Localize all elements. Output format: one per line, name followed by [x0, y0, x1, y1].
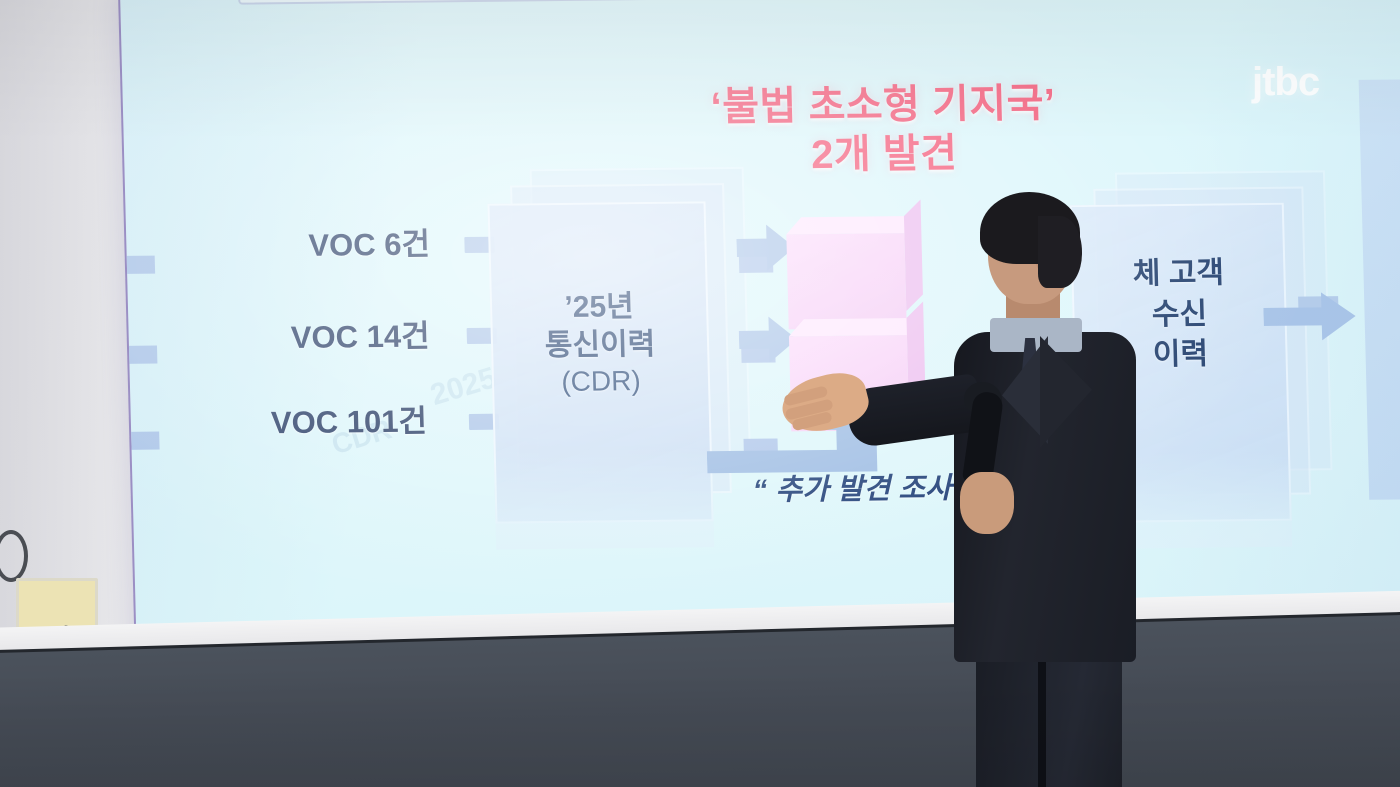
pink-box-2-top	[789, 318, 922, 337]
edge-tick-left-2	[123, 346, 157, 364]
voc-label-2: VOC 14건	[290, 310, 430, 357]
cdr-line-2: 통신이력	[544, 327, 655, 361]
slide-note: “ 추가 발견 조사	[752, 465, 952, 509]
slide-title-bar	[237, 0, 1298, 5]
speaker-figure	[940, 186, 1170, 787]
screen-surface: 불법 소프트웨어 설치 ··· 고객 확인 2025 CDR ‘불법 초소형 기…	[118, 0, 1400, 664]
speaker-mic-hand	[960, 472, 1014, 534]
broadcast-frame: 불법 소프트웨어 설치 ··· 고객 확인 2025 CDR ‘불법 초소형 기…	[0, 0, 1400, 787]
pink-box-1-side	[904, 199, 923, 311]
projection-screen: 불법 소프트웨어 설치 ··· 고객 확인 2025 CDR ‘불법 초소형 기…	[118, 0, 1400, 664]
pink-box-1-face	[786, 233, 906, 329]
edge-tick-left-3	[125, 432, 159, 450]
slide-headline: ‘불법 초소형 기지국’ 2개 발견	[602, 78, 1164, 182]
speaker-legs	[976, 646, 1122, 787]
voc-label-3: VOC 101건	[270, 395, 427, 442]
speaker-collar	[990, 318, 1082, 352]
cdr-line-1: ’25년	[564, 290, 634, 324]
jtbc-logo: jtbc	[1252, 60, 1319, 105]
speaker-leg-gap	[1038, 656, 1046, 787]
cdr-card-fade	[494, 447, 715, 549]
speaker-hair-back	[1038, 216, 1082, 288]
cdr-card-text: ’25년 통신이력 (CDR)	[490, 287, 711, 399]
arrow-right-icon-3	[1263, 292, 1356, 341]
headline-line-1: ‘불법 초소형 기지국’	[710, 81, 1056, 129]
cdr-line-3: (CDR)	[492, 362, 711, 399]
ghost-text-1: 2025	[427, 361, 501, 413]
pink-box-1-top	[786, 216, 919, 235]
voc-label-1: VOC 6건	[308, 218, 431, 264]
edge-tick-left-1	[121, 256, 155, 274]
far-right-card	[1359, 79, 1400, 500]
